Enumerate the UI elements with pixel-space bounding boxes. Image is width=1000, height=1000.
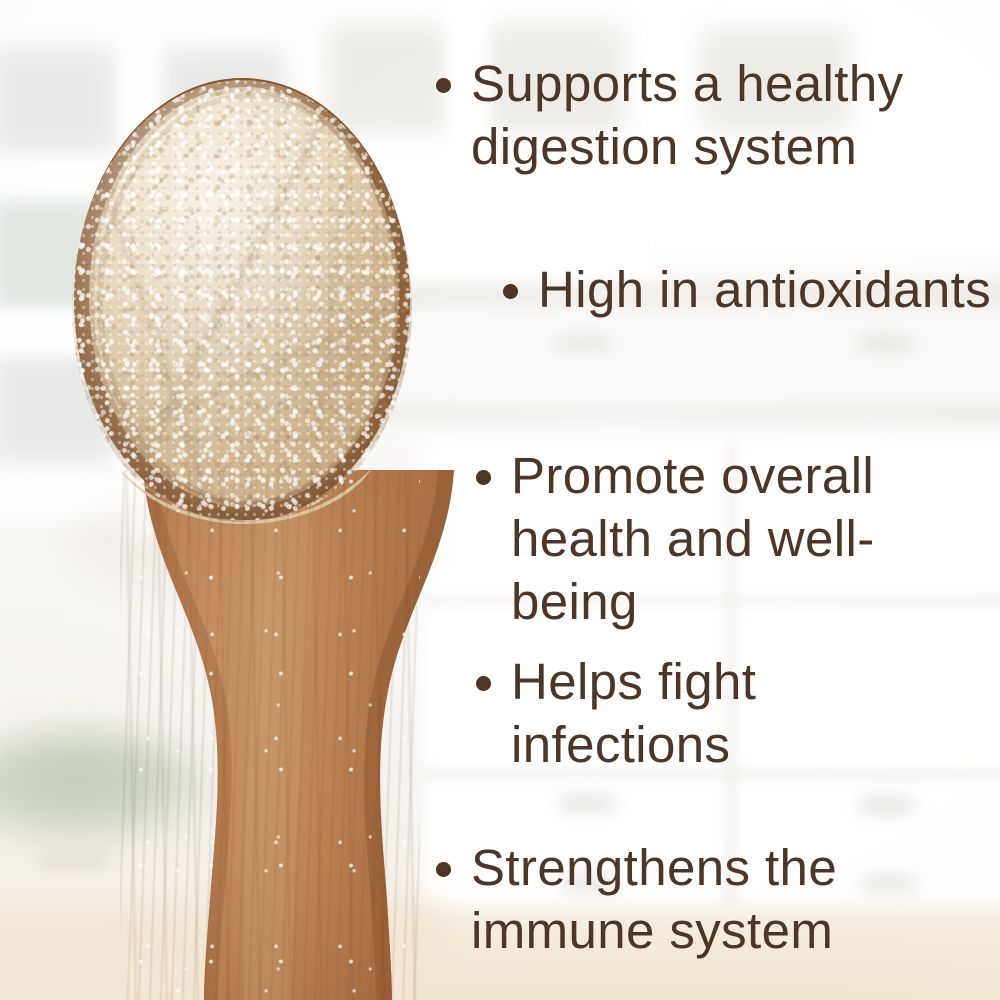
benefit-label-antioxidants: High in antioxidants bbox=[538, 258, 991, 321]
bullet-dot-icon bbox=[476, 676, 491, 691]
benefit-item-antioxidants[interactable]: High in antioxidants bbox=[503, 258, 1000, 321]
benefit-item-infections[interactable]: Helps fight infections bbox=[476, 650, 906, 776]
infographic-canvas: Supports a healthy digestion system High… bbox=[0, 0, 1000, 1000]
benefit-item-wellbeing[interactable]: Promote overall health and well-being bbox=[476, 444, 1000, 633]
benefit-label-digestion: Supports a healthy digestion system bbox=[471, 52, 903, 178]
benefit-item-digestion[interactable]: Supports a healthy digestion system bbox=[436, 52, 996, 178]
bullet-dot-icon bbox=[476, 470, 491, 485]
benefit-item-immunity[interactable]: Strengthens the immune system bbox=[436, 836, 896, 962]
benefit-label-wellbeing: Promote overall health and well-being bbox=[511, 444, 1000, 633]
bullet-dot-icon bbox=[503, 284, 518, 299]
benefit-label-infections: Helps fight infections bbox=[511, 650, 756, 776]
bullet-dot-icon bbox=[436, 862, 451, 877]
bullet-dot-icon bbox=[436, 78, 451, 93]
benefit-label-immunity: Strengthens the immune system bbox=[471, 836, 837, 962]
